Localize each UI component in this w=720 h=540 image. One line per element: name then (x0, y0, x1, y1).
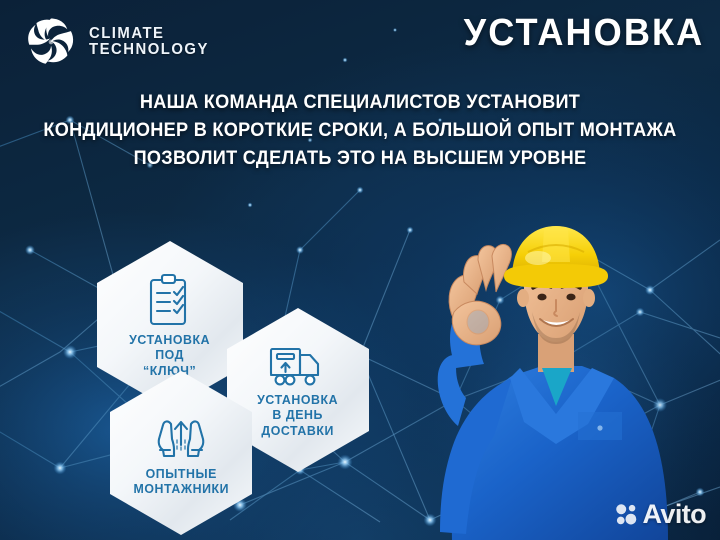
swirl-fan-logo-icon (22, 13, 80, 71)
headline: НАША КОМАНДА СПЕЦИАЛИСТОВ УСТАНОВИТ КОНД… (0, 88, 720, 172)
feature-line-2: ПОД (129, 347, 210, 362)
protective-gloves-icon (153, 410, 209, 462)
headline-line-3: ПОЗВОЛИТ СДЕЛАТЬ ЭТО НА ВЫСШЕМ УРОВНЕ (25, 144, 695, 172)
clipboard-checklist-icon (144, 272, 196, 328)
page-title: УСТАНОВКА (463, 12, 704, 55)
feature-line-1: ОПЫТНЫЕ (133, 466, 229, 481)
feature-line-3: ДОСТАВКИ (257, 423, 338, 438)
feature-line-1: УСТАНОВКА (129, 332, 210, 347)
worker-photo (392, 216, 720, 540)
feature-caption-turnkey: УСТАНОВКА ПОД “КЛЮЧ” (127, 332, 212, 377)
feature-line-3: “КЛЮЧ” (129, 363, 210, 378)
feature-line-1: УСТАНОВКА (257, 392, 338, 407)
delivery-truck-icon (267, 342, 329, 388)
avito-wordmark: Avito (643, 501, 707, 528)
feature-line-2: МОНТАЖНИКИ (133, 481, 229, 496)
headline-line-2: КОНДИЦИОНЕР В КОРОТКИЕ СРОКИ, А БОЛЬШОЙ … (25, 116, 695, 144)
headline-line-1: НАША КОМАНДА СПЕЦИАЛИСТОВ УСТАНОВИТ (25, 88, 695, 116)
feature-caption-experienced: ОПЫТНЫЕ МОНТАЖНИКИ (131, 466, 232, 496)
feature-caption-same-day: УСТАНОВКА В ДЕНЬ ДОСТАВКИ (255, 392, 340, 437)
brand-logo: CLIMATE TECHNOLOGY (22, 13, 218, 71)
avito-watermark: Avito (615, 501, 707, 528)
brand-name-line1: CLIMATE (89, 26, 209, 42)
advertisement-banner: CLIMATE TECHNOLOGY УСТАНОВКА НАША КОМАНД… (0, 0, 720, 540)
brand-name-line2: TECHNOLOGY (89, 42, 209, 58)
brand-name: CLIMATE TECHNOLOGY (89, 26, 218, 59)
avito-dots-icon (615, 503, 638, 526)
feature-line-2: В ДЕНЬ (257, 407, 338, 422)
